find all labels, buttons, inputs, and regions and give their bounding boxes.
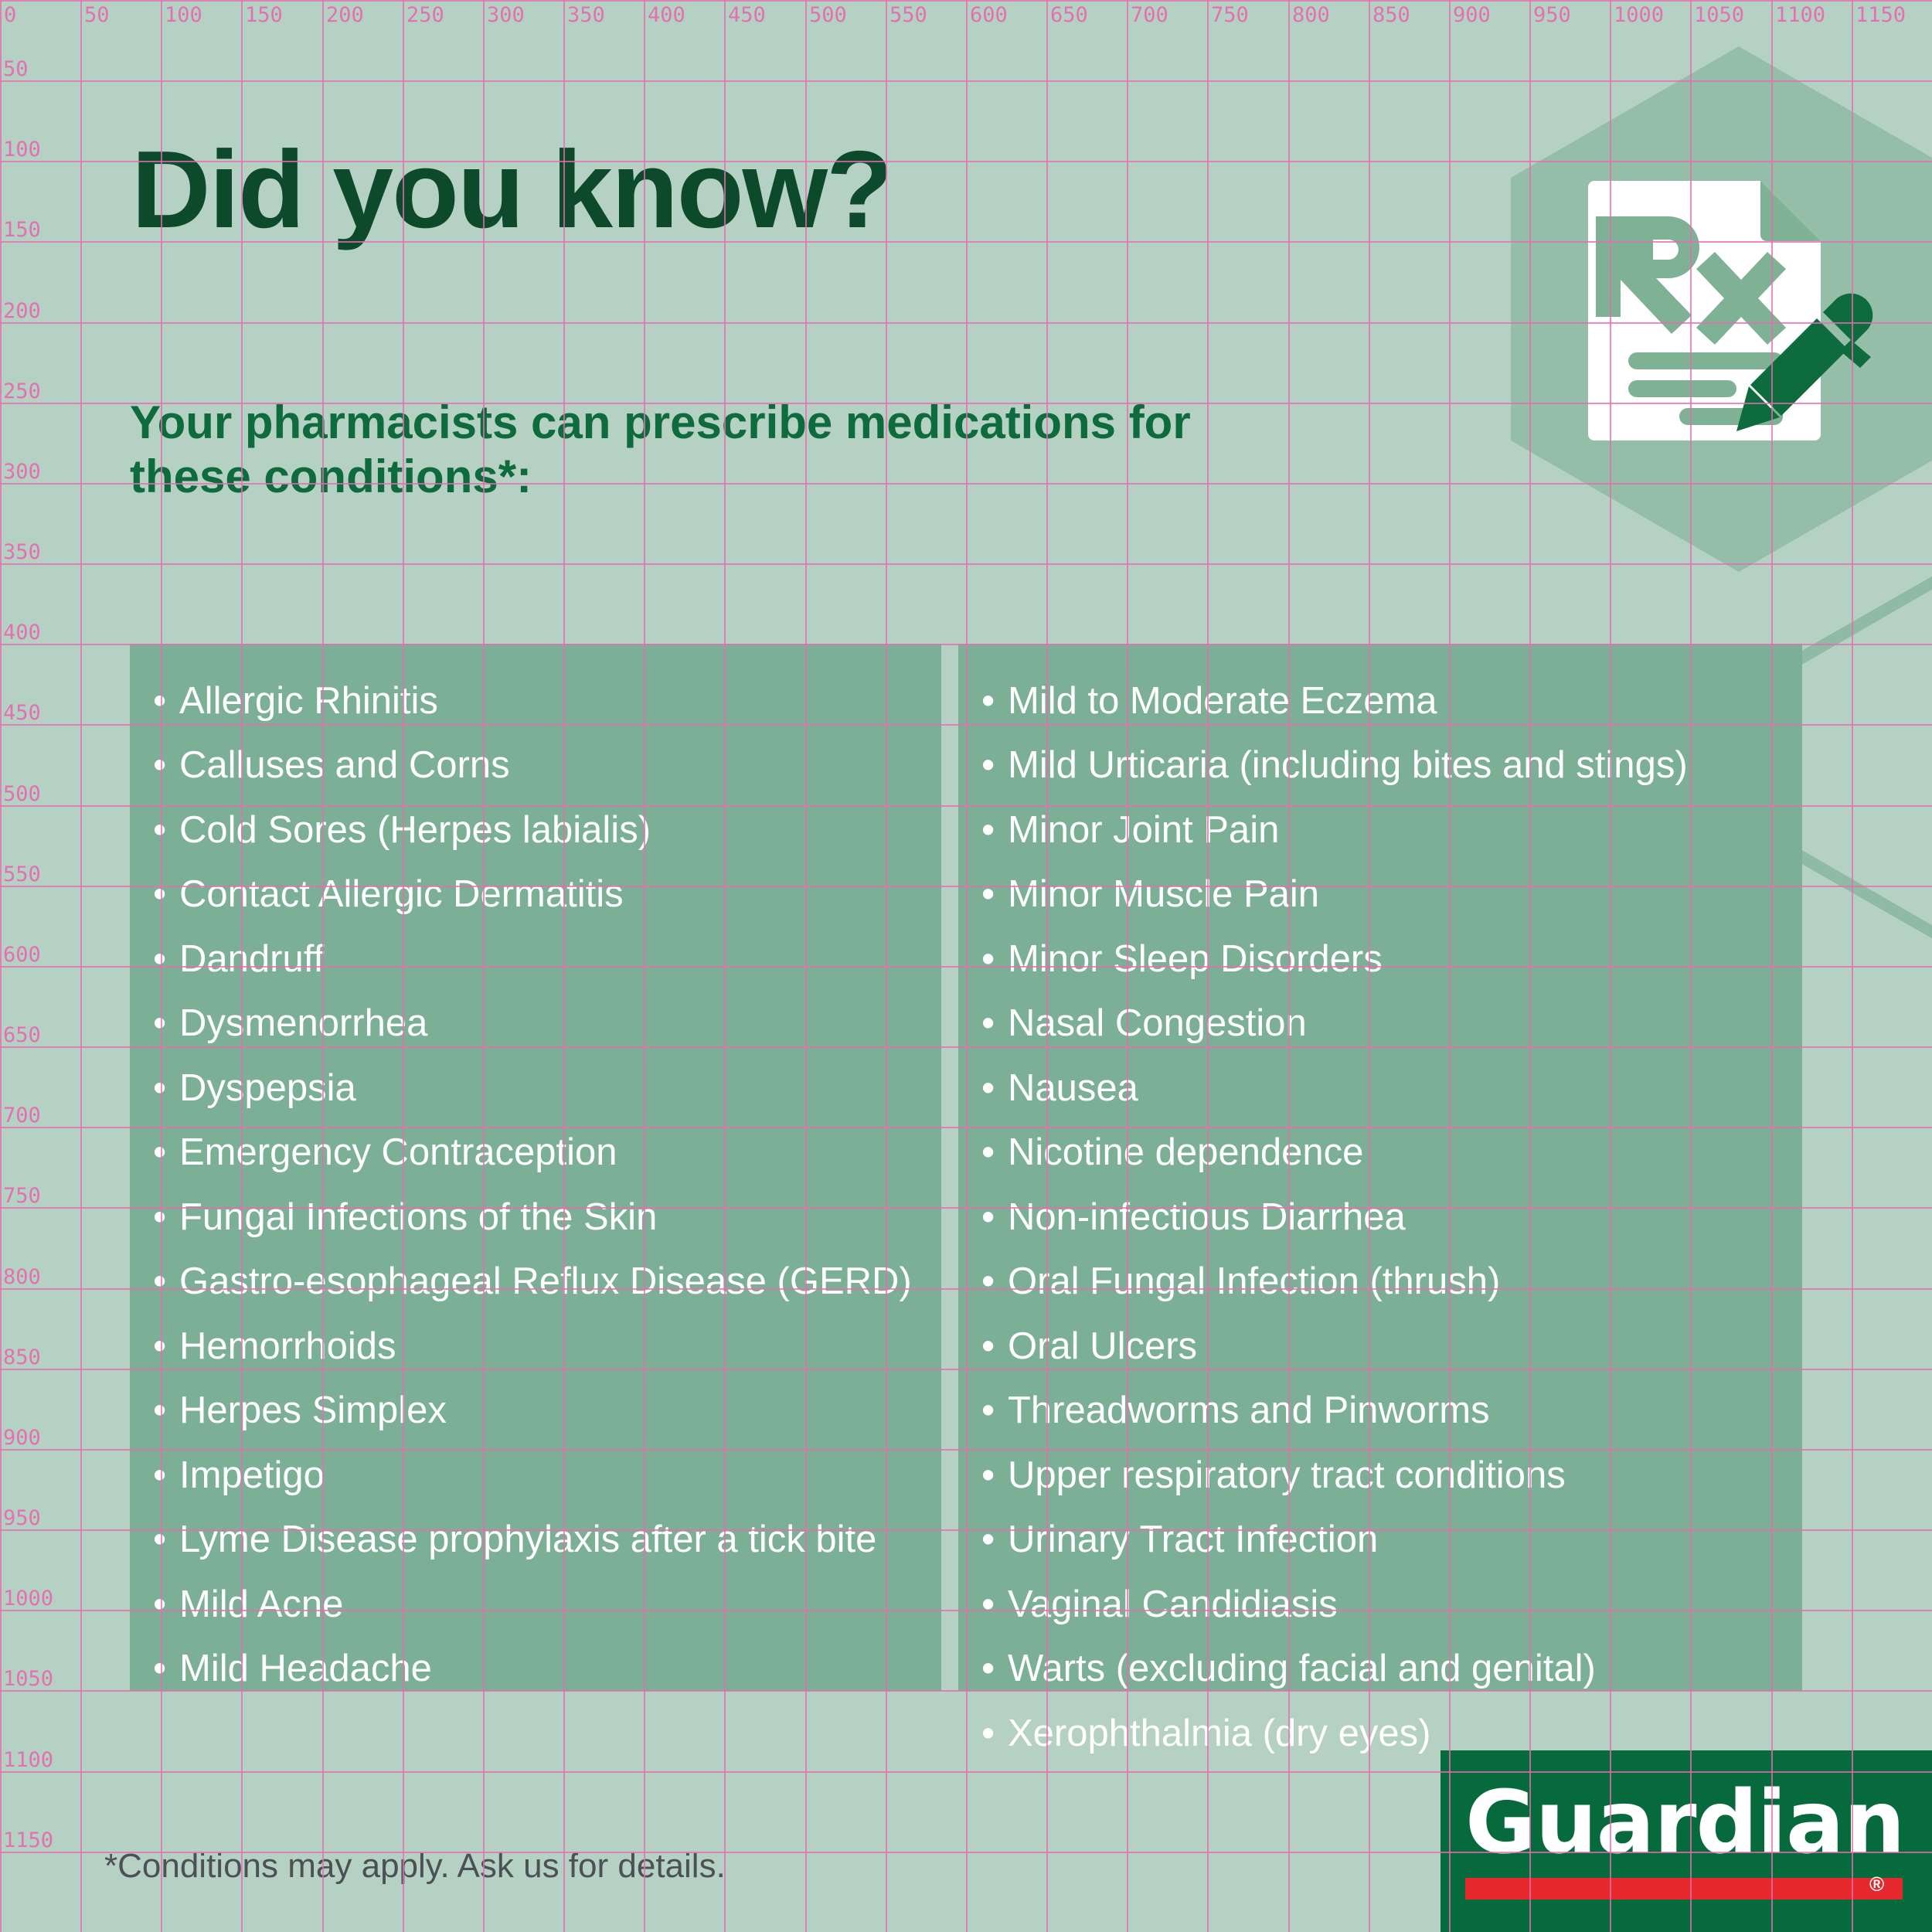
ruler-label-y: 450 — [3, 702, 41, 723]
ruler-label-x: 600 — [970, 5, 1008, 26]
bullet-icon: • — [153, 1645, 179, 1692]
bullet-icon: • — [981, 1000, 1008, 1047]
ruler-label-y: 50 — [3, 59, 29, 80]
list-item: •Dandruff — [153, 936, 918, 983]
condition-label: Herpes Simplex — [179, 1387, 918, 1434]
bullet-icon: • — [153, 1581, 179, 1628]
conditions-panel-left: •Allergic Rhinitis•Calluses and Corns•Co… — [130, 644, 941, 1691]
list-item: •Calluses and Corns — [153, 742, 918, 789]
condition-label: Mild Headache — [179, 1645, 918, 1692]
ruler-label-y: 100 — [3, 139, 41, 160]
ruler-label-x: 250 — [406, 5, 444, 26]
list-item: •Minor Muscle Pain — [981, 871, 1779, 918]
bullet-icon: • — [981, 1194, 1008, 1241]
ruler-label-y: 650 — [3, 1025, 41, 1046]
bullet-icon: • — [981, 1065, 1008, 1112]
conditions-panel-right: •Mild to Moderate Eczema•Mild Urticaria … — [958, 644, 1802, 1691]
condition-label: Minor Sleep Disorders — [1008, 936, 1779, 983]
grid-line-horizontal — [0, 0, 1932, 2]
list-item: •Lyme Disease prophylaxis after a tick b… — [153, 1516, 918, 1563]
conditions-list-left: •Allergic Rhinitis•Calluses and Corns•Co… — [153, 678, 918, 1693]
list-item: •Allergic Rhinitis — [153, 678, 918, 725]
condition-label: Dyspepsia — [179, 1065, 918, 1112]
condition-label: Allergic Rhinitis — [179, 678, 918, 725]
list-item: •Oral Fungal Infection (thrush) — [981, 1258, 1779, 1305]
poster-canvas: Did you know? Your pharmacists can presc… — [0, 0, 1932, 1932]
bullet-icon: • — [981, 1452, 1008, 1499]
ruler-label-x: 1150 — [1855, 5, 1906, 26]
bullet-icon: • — [981, 871, 1008, 918]
bullet-icon: • — [981, 1323, 1008, 1370]
ruler-label-y: 300 — [3, 461, 41, 482]
bullet-icon: • — [153, 1194, 179, 1241]
list-item: •Mild Acne — [153, 1581, 918, 1628]
list-item: •Gastro-esophageal Reflux Disease (GERD) — [153, 1258, 918, 1305]
ruler-label-y: 750 — [3, 1185, 41, 1206]
list-item: •Hemorrhoids — [153, 1323, 918, 1370]
list-item: •Herpes Simplex — [153, 1387, 918, 1434]
ruler-label-y: 200 — [3, 301, 41, 321]
bullet-icon: • — [153, 1258, 179, 1305]
conditions-panels: •Allergic Rhinitis•Calluses and Corns•Co… — [130, 644, 1802, 1691]
ruler-label-x: 500 — [809, 5, 847, 26]
ruler-label-x: 700 — [1131, 5, 1168, 26]
grid-line-horizontal — [0, 563, 1932, 565]
list-item: •Impetigo — [153, 1452, 918, 1499]
bullet-icon: • — [981, 936, 1008, 983]
ruler-label-x: 1100 — [1775, 5, 1825, 26]
ruler-label-y: 1050 — [3, 1668, 53, 1689]
list-item: •Non-infectious Diarrhea — [981, 1194, 1779, 1241]
condition-label: Hemorrhoids — [179, 1323, 918, 1370]
list-item: •Mild Headache — [153, 1645, 918, 1692]
condition-label: Cold Sores (Herpes labialis) — [179, 807, 918, 854]
list-item: •Threadworms and Pinworms — [981, 1387, 1779, 1434]
list-item: •Vaginal Candidiasis — [981, 1581, 1779, 1628]
bullet-icon: • — [153, 1129, 179, 1176]
bullet-icon: • — [153, 678, 179, 725]
ruler-label-y: 850 — [3, 1347, 41, 1368]
list-item: •Urinary Tract Infection — [981, 1516, 1779, 1563]
ruler-label-x: 100 — [165, 5, 202, 26]
grid-line-vertical — [0, 0, 2, 1932]
condition-label: Calluses and Corns — [179, 742, 918, 789]
condition-label: Dysmenorrhea — [179, 1000, 918, 1047]
list-item: •Dysmenorrhea — [153, 1000, 918, 1047]
list-item: •Contact Allergic Dermatitis — [153, 871, 918, 918]
bullet-icon: • — [153, 1000, 179, 1047]
condition-label: Non-infectious Diarrhea — [1008, 1194, 1779, 1241]
ruler-label-x: 0 — [4, 5, 16, 26]
condition-label: Upper respiratory tract conditions — [1008, 1452, 1779, 1499]
ruler-label-x: 450 — [728, 5, 766, 26]
condition-label: Nasal Congestion — [1008, 1000, 1779, 1047]
bullet-icon: • — [981, 807, 1008, 854]
ruler-label-y: 600 — [3, 944, 41, 965]
grid-line-horizontal — [0, 80, 1932, 82]
bullet-icon: • — [153, 742, 179, 789]
guardian-logo: Guardian ® — [1440, 1750, 1932, 1932]
ruler-label-x: 400 — [648, 5, 685, 26]
list-item: •Minor Joint Pain — [981, 807, 1779, 854]
condition-label: Oral Ulcers — [1008, 1323, 1779, 1370]
ruler-label-y: 1000 — [3, 1588, 53, 1609]
condition-label: Mild to Moderate Eczema — [1008, 678, 1779, 725]
bullet-icon: • — [981, 1581, 1008, 1628]
condition-label: Vaginal Candidiasis — [1008, 1581, 1779, 1628]
list-item: •Nasal Congestion — [981, 1000, 1779, 1047]
ruler-label-y: 150 — [3, 219, 41, 240]
conditions-list-right: •Mild to Moderate Eczema•Mild Urticaria … — [981, 678, 1779, 1757]
page-subtitle: Your pharmacists can prescribe medicatio… — [130, 396, 1289, 504]
list-item: •Minor Sleep Disorders — [981, 936, 1779, 983]
list-item: •Oral Ulcers — [981, 1323, 1779, 1370]
bullet-icon: • — [153, 936, 179, 983]
list-item: •Emergency Contraception — [153, 1129, 918, 1176]
ruler-label-x: 550 — [889, 5, 927, 26]
ruler-label-x: 200 — [326, 5, 364, 26]
condition-label: Urinary Tract Infection — [1008, 1516, 1779, 1563]
grid-line-vertical — [80, 0, 82, 1932]
bullet-icon: • — [153, 1452, 179, 1499]
condition-label: Lyme Disease prophylaxis after a tick bi… — [179, 1516, 918, 1563]
bullet-icon: • — [981, 1516, 1008, 1563]
condition-label: Mild Urticaria (including bites and stin… — [1008, 742, 1779, 789]
bullet-icon: • — [153, 1387, 179, 1434]
condition-label: Warts (excluding facial and genital) — [1008, 1645, 1779, 1692]
footnote-text: *Conditions may apply. Ask us for detail… — [104, 1847, 726, 1886]
ruler-label-x: 800 — [1292, 5, 1330, 26]
bullet-icon: • — [153, 1516, 179, 1563]
ruler-label-x: 650 — [1050, 5, 1088, 26]
page-title: Did you know? — [131, 135, 892, 245]
list-item: •Warts (excluding facial and genital) — [981, 1645, 1779, 1692]
ruler-label-x: 850 — [1372, 5, 1410, 26]
bullet-icon: • — [981, 1129, 1008, 1176]
ruler-label-y: 900 — [3, 1427, 41, 1448]
condition-label: Contact Allergic Dermatitis — [179, 871, 918, 918]
ruler-label-x: 950 — [1533, 5, 1571, 26]
condition-label: Oral Fungal Infection (thrush) — [1008, 1258, 1779, 1305]
bullet-icon: • — [153, 1065, 179, 1112]
bullet-icon: • — [981, 742, 1008, 789]
ruler-label-y: 350 — [3, 542, 41, 563]
ruler-label-y: 700 — [3, 1105, 41, 1126]
ruler-label-x: 1000 — [1614, 5, 1664, 26]
list-item: •Nicotine dependence — [981, 1129, 1779, 1176]
list-item: •Nausea — [981, 1065, 1779, 1112]
condition-label: Minor Muscle Pain — [1008, 871, 1779, 918]
bullet-icon: • — [153, 871, 179, 918]
condition-label: Mild Acne — [179, 1581, 918, 1628]
ruler-label-y: 800 — [3, 1267, 41, 1287]
ruler-label-y: 950 — [3, 1508, 41, 1529]
condition-label: Minor Joint Pain — [1008, 807, 1779, 854]
ruler-label-x: 350 — [567, 5, 605, 26]
condition-label: Gastro-esophageal Reflux Disease (GERD) — [179, 1258, 918, 1305]
list-item: •Mild to Moderate Eczema — [981, 678, 1779, 725]
ruler-label-x: 150 — [245, 5, 283, 26]
list-item: •Dyspepsia — [153, 1065, 918, 1112]
condition-label: Fungal Infections of the Skin — [179, 1194, 918, 1241]
ruler-label-x: 900 — [1453, 5, 1491, 26]
ruler-label-y: 550 — [3, 864, 41, 885]
condition-label: Nicotine dependence — [1008, 1129, 1779, 1176]
guardian-red-bar — [1465, 1878, 1903, 1900]
ruler-label-y: 400 — [3, 622, 41, 643]
ruler-label-x: 750 — [1211, 5, 1249, 26]
ruler-label-y: 500 — [3, 784, 41, 804]
bullet-icon: • — [981, 678, 1008, 725]
list-item: •Cold Sores (Herpes labialis) — [153, 807, 918, 854]
ruler-label-x: 300 — [487, 5, 525, 26]
bullet-icon: • — [981, 1258, 1008, 1305]
bullet-icon: • — [153, 807, 179, 854]
list-item: •Mild Urticaria (including bites and sti… — [981, 742, 1779, 789]
rx-prescription-icon — [1580, 170, 1889, 479]
condition-label: Dandruff — [179, 936, 918, 983]
ruler-label-x: 50 — [84, 5, 110, 26]
ruler-label-y: 250 — [3, 381, 41, 402]
ruler-label-y: 1100 — [3, 1750, 53, 1770]
list-item: •Upper respiratory tract conditions — [981, 1452, 1779, 1499]
ruler-label-y: 1150 — [3, 1830, 53, 1851]
bullet-icon: • — [981, 1387, 1008, 1434]
condition-label: Impetigo — [179, 1452, 918, 1499]
bullet-icon: • — [981, 1645, 1008, 1692]
guardian-wordmark: Guardian — [1465, 1780, 1904, 1866]
registered-trademark-icon: ® — [1869, 1874, 1884, 1894]
condition-label: Nausea — [1008, 1065, 1779, 1112]
condition-label: Emergency Contraception — [179, 1129, 918, 1176]
list-item: •Fungal Infections of the Skin — [153, 1194, 918, 1241]
bullet-icon: • — [153, 1323, 179, 1370]
ruler-label-x: 1050 — [1694, 5, 1744, 26]
condition-label: Threadworms and Pinworms — [1008, 1387, 1779, 1434]
bullet-icon: • — [981, 1710, 1008, 1757]
